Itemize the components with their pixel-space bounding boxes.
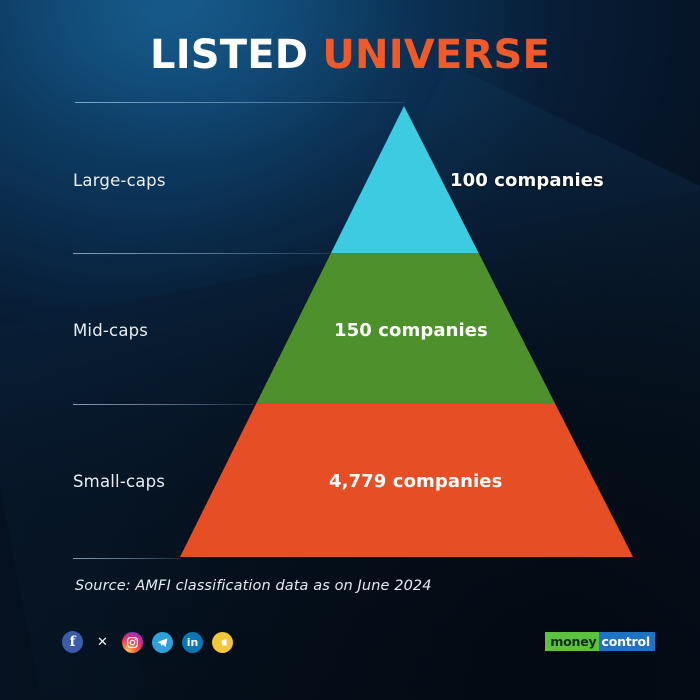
- linkedin-icon[interactable]: in: [182, 632, 203, 653]
- divider-line-mid-small: [73, 404, 254, 405]
- divider-line-base: [73, 558, 181, 559]
- x-twitter-icon[interactable]: ✕: [92, 632, 113, 653]
- background-vignette: [0, 0, 700, 700]
- value-label-large-caps: 100 companies: [450, 170, 604, 191]
- telegram-icon[interactable]: [152, 632, 173, 653]
- telegram-glyph: [156, 636, 169, 649]
- page-title: LISTED UNIVERSE: [0, 35, 700, 75]
- category-label-mid-caps: Mid-caps: [73, 321, 148, 340]
- title-word-universe: UNIVERSE: [322, 32, 550, 78]
- instagram-glyph: [126, 636, 139, 649]
- source-note: Source: AMFI classification data as on J…: [75, 578, 432, 594]
- social-links: f ✕ in: [62, 631, 233, 653]
- logo-control-part: control: [599, 632, 655, 651]
- divider-line-large-mid: [73, 253, 331, 254]
- value-label-mid-caps: 150 companies: [334, 320, 488, 341]
- facebook-icon[interactable]: f: [62, 631, 83, 653]
- instagram-icon[interactable]: [122, 632, 143, 653]
- moneycontrol-logo[interactable]: money control: [545, 632, 655, 651]
- logo-money-part: money: [545, 632, 599, 651]
- divider-line-top: [75, 102, 405, 103]
- title-word-listed: LISTED: [150, 32, 308, 78]
- koo-icon[interactable]: [212, 632, 233, 653]
- category-label-large-caps: Large-caps: [73, 171, 166, 190]
- value-label-small-caps: 4,779 companies: [329, 471, 502, 492]
- koo-glyph: [216, 636, 229, 649]
- category-label-small-caps: Small-caps: [73, 472, 165, 491]
- infographic-canvas: LISTED UNIVERSE Large-caps Mid-caps Smal…: [0, 0, 700, 700]
